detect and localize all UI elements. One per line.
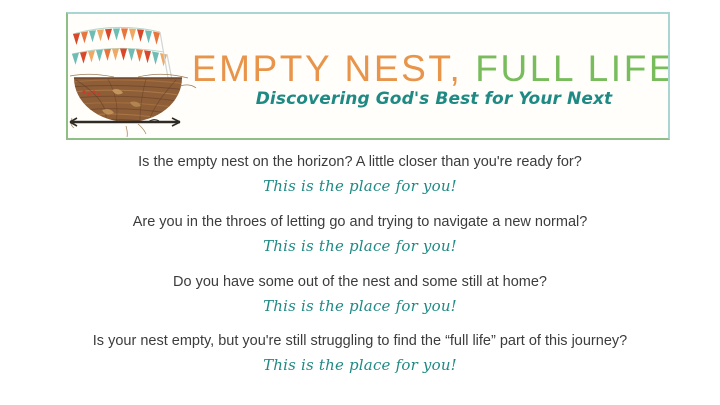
copy-section: Is the empty nest on the horizon? A litt… — [0, 152, 720, 377]
question-text: Do you have some out of the nest and som… — [0, 272, 720, 293]
answer-text: This is the place for you! — [0, 176, 720, 198]
qa-block: Are you in the throes of letting go and … — [0, 212, 720, 258]
nest-bowl — [70, 74, 196, 137]
question-text: Are you in the throes of letting go and … — [0, 212, 720, 233]
nest-and-bunting-artwork — [68, 14, 200, 138]
question-text: Is the empty nest on the horizon? A litt… — [0, 152, 720, 173]
brand-title-block: EMPTY NEST, FULL LIFE Discovering God's … — [200, 14, 668, 138]
qa-block: Do you have some out of the nest and som… — [0, 272, 720, 318]
title-orange-part: EMPTY NEST, — [192, 48, 463, 89]
site-header-banner: EMPTY NEST, FULL LIFE Discovering God's … — [66, 12, 670, 140]
birds-nest-illustration — [68, 14, 200, 138]
answer-text: This is the place for you! — [0, 236, 720, 258]
question-text: Is your nest empty, but you're still str… — [0, 331, 720, 352]
answer-text: This is the place for you! — [0, 355, 720, 377]
bunting-flags-illustration — [72, 27, 172, 80]
page-title: EMPTY NEST, FULL LIFE — [192, 50, 670, 87]
brand-tagline: Discovering God's Best for Your Next — [256, 89, 613, 109]
answer-text: This is the place for you! — [0, 296, 720, 318]
qa-block: Is the empty nest on the horizon? A litt… — [0, 152, 720, 198]
title-green-part: FULL LIFE — [475, 48, 670, 89]
qa-block: Is your nest empty, but you're still str… — [0, 331, 720, 377]
